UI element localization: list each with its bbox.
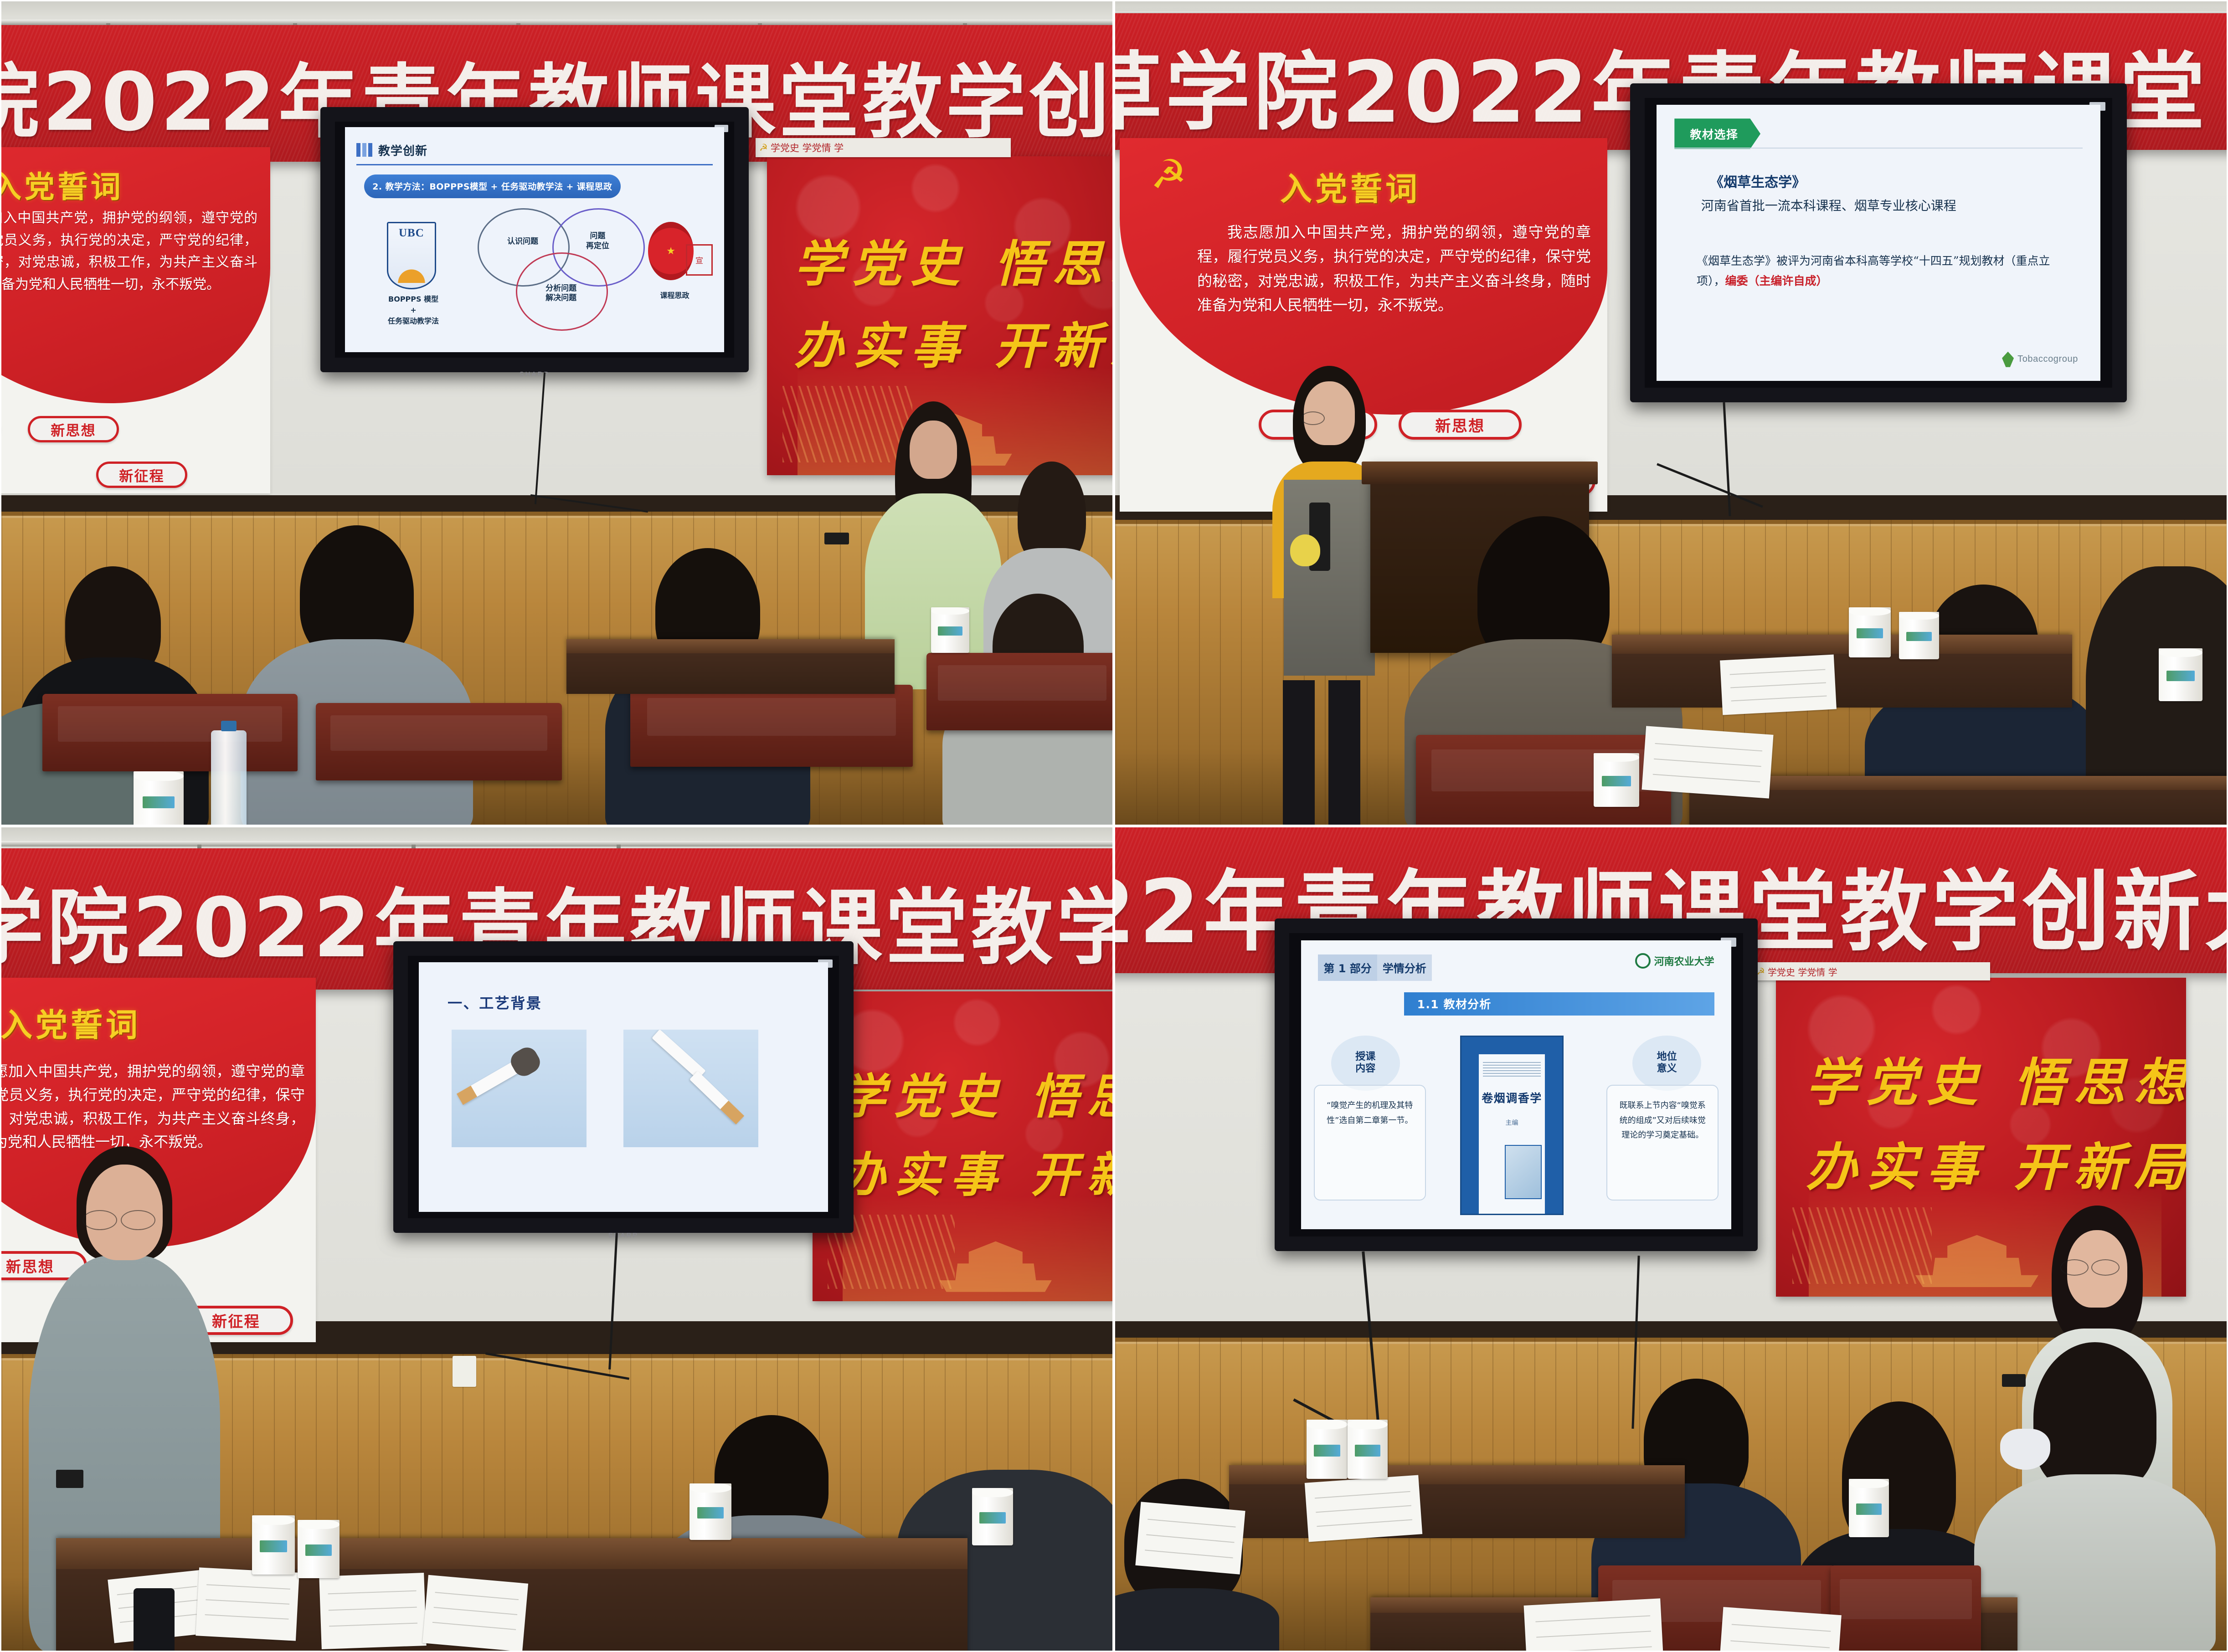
slide-rule — [1674, 148, 2082, 149]
textbook-cover: 卷烟调香学 主编 — [1460, 1036, 1564, 1215]
display-inner: 第 1 部分 学情分析 河南农业大学 1.1 教材分析 授课 内容 “嗅觉产生的… — [1289, 933, 1744, 1237]
presenter-clicker — [824, 533, 849, 544]
venn-label-1: 认识问题 — [486, 237, 560, 246]
presenter-glasses-icon — [121, 1210, 155, 1230]
slide-method-pill: 2. 教学方法：BOPPPS模型 + 任务驱动教学法 + 课程思政 — [364, 174, 621, 198]
slide-teaching-innovation: 教学创新 2. 教学方法：BOPPPS模型 + 任务驱动教学法 + 课程思政 U… — [345, 127, 724, 352]
presenter-clicker — [56, 1470, 83, 1488]
tv-brand-label: SHARP — [608, 1231, 639, 1239]
leaf-icon — [2002, 352, 2014, 367]
seal-icon: 宣 — [686, 244, 712, 276]
ubc-sun-icon — [397, 266, 426, 283]
presenter-glasses-icon — [2060, 1259, 2089, 1276]
display-inner: 一、工艺背景 — [408, 956, 839, 1219]
paper-cup — [931, 607, 969, 653]
university-name: 河南农业大学 — [1654, 954, 1714, 968]
paper-cup — [1594, 753, 1639, 807]
display-inner: 教材选择 《烟草生态学》 河南省首批一流本科课程、烟草专业核心课程 《烟草生态学… — [1645, 98, 2113, 388]
presenter-leg — [1328, 680, 1360, 826]
slide-title: 一、工艺背景 — [448, 992, 542, 1013]
textbook-photo — [1505, 1145, 1542, 1199]
university-ring-icon — [1635, 953, 1651, 969]
pill-new-era: 新时代 — [0, 416, 0, 442]
presenter-glasses-icon — [2091, 1259, 2120, 1276]
oath-body-text: 我志愿加入中国共产党，拥护党的纲领，遵守党的章程，履行党员义务，执行党的决定，严… — [0, 207, 257, 296]
venn-label-2: 问题 再定位 — [561, 231, 634, 251]
right-content-box: 既联系上节内容“嗅觉系统的组成”又对后续味觉理论的学习奠定基础。 — [1606, 1085, 1719, 1201]
plaque-emblem-icon: ☭ — [1757, 966, 1765, 977]
oath-body-text: 我志愿加入中国共产党，拥护党的纲领，遵守党的章程，履行党员义务，执行党的决定，严… — [0, 1060, 305, 1154]
textbook-author: 主编 — [1479, 1118, 1545, 1127]
display-inner: 教学创新 2. 教学方法：BOPPPS模型 + 任务驱动教学法 + 课程思政 U… — [335, 122, 735, 358]
panel-bottom-right: 22年青年教师课堂教学创新大 学党史 悟思想 办实事 开新局 ☭ 学党史 学党情… — [1114, 826, 2228, 1652]
photo-collage: 院2022年青年教师课堂教学创新 ☭ 入党誓词 我志愿加入中国共产党，拥护党的纲… — [0, 0, 2228, 1652]
left-circle-label: 授课 内容 — [1331, 1036, 1400, 1091]
panel-top-left: 院2022年青年教师课堂教学创新 ☭ 入党誓词 我志愿加入中国共产党，拥护党的纲… — [0, 0, 1114, 826]
audience-table — [566, 639, 895, 694]
presenter-leg — [1283, 680, 1315, 826]
audience-table — [1229, 1465, 1685, 1538]
face-mask-icon — [2000, 1429, 2050, 1470]
oath-title: 入党誓词 — [0, 1000, 141, 1046]
display-screen[interactable]: 教材选择 《烟草生态学》 河南省首批一流本科课程、烟草专业核心课程 《烟草生态学… — [1630, 83, 2127, 402]
bench-seat — [1831, 1565, 1981, 1652]
pill-new-thought: 新思想 — [1399, 410, 1522, 440]
bench-seat — [42, 694, 298, 771]
plaque-text: 学党史 学党情 学 — [771, 141, 844, 154]
audience-table — [1689, 776, 2228, 826]
cable — [530, 494, 648, 513]
venn-diagram: 认识问题 问题 再定位 分析问题 解决问题 — [474, 208, 648, 339]
presenter-glasses-icon — [1301, 411, 1325, 425]
slide-footer-logo: Tobaccogroup — [2002, 352, 2078, 367]
textbook-series-lines — [1483, 1062, 1541, 1076]
bench-seat — [316, 703, 562, 780]
podium-lip — [1362, 462, 1598, 484]
document-paper — [1641, 726, 1773, 798]
audience-torso — [1114, 1588, 1279, 1652]
audience-table — [1612, 635, 2072, 708]
document-paper — [196, 1567, 299, 1641]
panel-bottom-left: 学院2022年青年教师课堂教学创 入党誓词 我志愿加入中国共产党，拥护党的纲领，… — [0, 826, 1114, 1652]
slide-header: 第 1 部分 学情分析 — [1318, 954, 1431, 980]
plaque-text: 学党史 学党情 学 — [1768, 965, 1837, 978]
document-paper — [1719, 1607, 1842, 1652]
oath-body-text: 我志愿加入中国共产党，拥护党的纲领，遵守党的章程，履行党员义务，执行党的决定，严… — [1197, 220, 1591, 318]
water-bottle — [211, 730, 247, 826]
smartphone — [134, 1588, 175, 1652]
slide-learner-analysis: 第 1 部分 学情分析 河南农业大学 1.1 教材分析 授课 内容 “嗅觉产生的… — [1301, 940, 1732, 1230]
slide-footer-logo-text: Tobaccogroup — [2017, 354, 2078, 364]
slide-textbook-selection: 教材选择 《烟草生态学》 河南省首批一流本科课程、烟草专业核心课程 《烟草生态学… — [1657, 105, 2100, 381]
university-logo: 河南农业大学 — [1635, 953, 1714, 969]
display-screen[interactable]: 第 1 部分 学情分析 河南农业大学 1.1 教材分析 授课 内容 “嗅觉产生的… — [1275, 918, 1758, 1251]
slide-line-3: 《烟草生态学》被评为河南省本科高等学校“十四五”规划教材（重点立项），编委（主编… — [1697, 251, 2074, 291]
document-paper — [1720, 655, 1837, 715]
paper-cup — [298, 1520, 340, 1578]
calligraphy-line-1: 学党史 悟思想 — [1806, 1041, 2186, 1115]
header-bars-icon — [356, 143, 372, 157]
cigarette-icon — [689, 1071, 744, 1124]
calligraphy-line-1: 学党史 悟思想 — [794, 225, 1114, 296]
left-content-box: “嗅觉产生的机理及其特性”选自第二章第一节。 — [1314, 1085, 1426, 1201]
presenter-face — [910, 421, 957, 479]
slide-line-3-highlight: 编委（主编许自成） — [1725, 274, 1827, 287]
ubc-logo-text: UBC — [399, 227, 424, 240]
right-caption: 课程思政 — [641, 289, 709, 300]
ubc-logo: UBC — [387, 222, 436, 289]
calligraphy-line-2: 办实事 开新局 — [794, 307, 1114, 378]
paper-cup — [689, 1483, 731, 1540]
bench-seat — [630, 685, 913, 767]
calligraphy-board: 学党史 悟思想 办实事 开新局 — [813, 991, 1114, 1301]
party-emblem-icon: ☭ — [1151, 154, 1187, 195]
pill-new-journey: 新征程 — [96, 462, 187, 488]
slide-title: 《烟草生态学》 — [1710, 171, 1806, 191]
document-paper — [1135, 1502, 1245, 1575]
calligraphy-line-2: 办实事 开新局 — [1806, 1126, 2186, 1200]
audience-hair — [2033, 1342, 2156, 1493]
slide-part-label: 第 1 部分 — [1318, 954, 1377, 980]
calligraphy-line-1: 学党史 悟思想 — [838, 1058, 1114, 1127]
party-oath-board: ☭ 入党誓词 我志愿加入中国共产党，拥护党的纲领，遵守党的章程，履行党员义务，执… — [0, 147, 270, 493]
paper-cup — [1899, 612, 1939, 659]
calligraphy-line-2: 办实事 开新局 — [838, 1136, 1114, 1205]
paper-cup — [1849, 607, 1891, 657]
document-paper — [1305, 1475, 1422, 1542]
paper-cup — [972, 1488, 1013, 1545]
bench-seat — [926, 653, 1114, 730]
left-caption: BOPPPS 模型 + 任务驱动教学法 — [368, 294, 458, 327]
panel-top-right: 草学院2022年青年教师课堂 ☭ 入党誓词 我志愿加入中国共产党，拥护党的纲领，… — [1114, 0, 2228, 826]
paper-cup — [134, 771, 184, 826]
cigarette-icon — [457, 1056, 529, 1105]
slide-topic-label: 学情分析 — [1377, 954, 1432, 980]
slide-process-background: 一、工艺背景 — [419, 962, 828, 1212]
paper-cup — [1307, 1420, 1348, 1479]
left-caption-plus: + — [368, 305, 458, 316]
oath-title: 入党誓词 — [0, 163, 123, 206]
plaque-emblem-icon: ☭ — [759, 142, 768, 153]
slide-header: 教学创新 — [356, 136, 712, 165]
document-paper — [422, 1575, 528, 1652]
pill-new-thought: 新思想 — [28, 416, 119, 442]
document-paper — [1524, 1598, 1664, 1652]
slide-section-bar: 1.1 教材分析 — [1404, 992, 1714, 1016]
wall-plaque: ☭ 学党史 学党情 学 — [756, 138, 1011, 157]
presenter-flower-brooch — [1290, 534, 1320, 566]
wall-outlet — [453, 1356, 476, 1387]
wall-plaque: ☭ 学党史 学党情 学 — [1753, 962, 1990, 980]
slide-line-2: 河南省首批一流本科课程、烟草专业核心课程 — [1701, 196, 2074, 214]
venn-label-3: 分析问题 解决问题 — [525, 284, 598, 303]
slide-tag: 教材选择 — [1674, 118, 1760, 149]
textbook-face: 卷烟调香学 主编 — [1479, 1054, 1545, 1214]
textbook-title: 卷烟调香学 — [1479, 1089, 1545, 1106]
slide-image-burning-cigarette — [452, 1030, 587, 1147]
paper-cup — [2159, 648, 2202, 701]
left-caption-line-2: 任务驱动教学法 — [368, 316, 458, 327]
paper-cup — [1348, 1420, 1388, 1479]
presenter-glasses-icon — [82, 1210, 117, 1230]
display-screen[interactable]: 一、工艺背景 SHARP — [393, 941, 854, 1233]
ceiling-pipe — [1, 841, 1112, 847]
slide-image-bent-cigarette — [623, 1030, 758, 1147]
oath-title: 入党誓词 — [1280, 164, 1420, 210]
document-paper — [319, 1573, 426, 1649]
display-screen[interactable]: 教学创新 2. 教学方法：BOPPPS模型 + 任务驱动教学法 + 课程思政 U… — [320, 107, 749, 372]
paper-cup — [252, 1515, 295, 1575]
slide-header-title: 教学创新 — [378, 142, 427, 159]
paper-cup — [1849, 1479, 1889, 1537]
right-circle-label: 地位 意义 — [1632, 1036, 1701, 1091]
audience-member — [238, 525, 475, 826]
left-caption-line-1: BOPPPS 模型 — [368, 294, 458, 305]
